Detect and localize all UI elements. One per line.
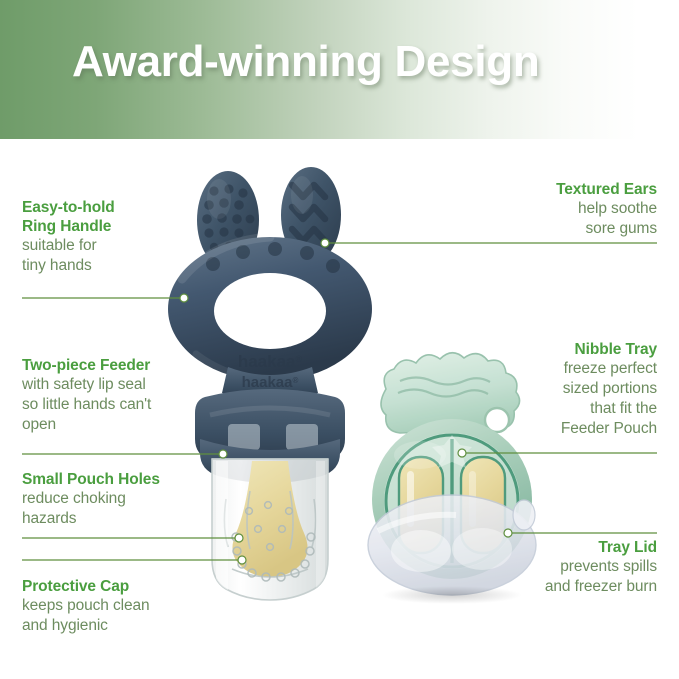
callout-body: reduce choking hazards: [22, 489, 217, 529]
infographic-page: Award-winning Design: [0, 0, 679, 679]
callout-body: suitable for tiny hands: [22, 236, 212, 276]
callout-easy-to-hold-ring-handle: Easy-to-hold Ring Handle suitable for ti…: [22, 198, 212, 276]
callout-title: Small Pouch Holes: [22, 470, 217, 489]
callout-title: Easy-to-hold Ring Handle: [22, 198, 212, 236]
tray-lid-tab: [513, 500, 535, 530]
callout-body: with safety lip seal so little hands can…: [22, 375, 222, 435]
callout-body: freeze perfect sized portions that fit t…: [452, 359, 657, 439]
callout-title: Nibble Tray: [452, 340, 657, 359]
callout-title: Two-piece Feeder: [22, 356, 222, 375]
callout-title: Textured Ears: [457, 180, 657, 199]
brand-ring-label: haakaa®: [238, 352, 303, 371]
page-title: Award-winning Design: [72, 37, 539, 87]
callout-textured-ears: Textured Ears help soothe sore gums: [457, 180, 657, 239]
callout-body: help soothe sore gums: [457, 199, 657, 239]
callout-body: prevents spills and freezer burn: [442, 557, 657, 597]
callout-small-pouch-holes: Small Pouch Holes reduce choking hazards: [22, 470, 217, 529]
callout-two-piece-feeder: Two-piece Feeder with safety lip seal so…: [22, 356, 222, 435]
brand-cap-label: haakaa®: [242, 374, 299, 391]
callout-title: Protective Cap: [22, 577, 217, 596]
feeder-pouch: [212, 459, 328, 600]
callout-tray-lid: Tray Lid prevents spills and freezer bur…: [442, 538, 657, 597]
callout-body: keeps pouch clean and hygienic: [22, 596, 217, 636]
callout-protective-cap: Protective Cap keeps pouch clean and hyg…: [22, 577, 217, 636]
header-banner: Award-winning Design: [0, 0, 679, 139]
callout-nibble-tray: Nibble Tray freeze perfect sized portion…: [452, 340, 657, 439]
callout-title: Tray Lid: [442, 538, 657, 557]
